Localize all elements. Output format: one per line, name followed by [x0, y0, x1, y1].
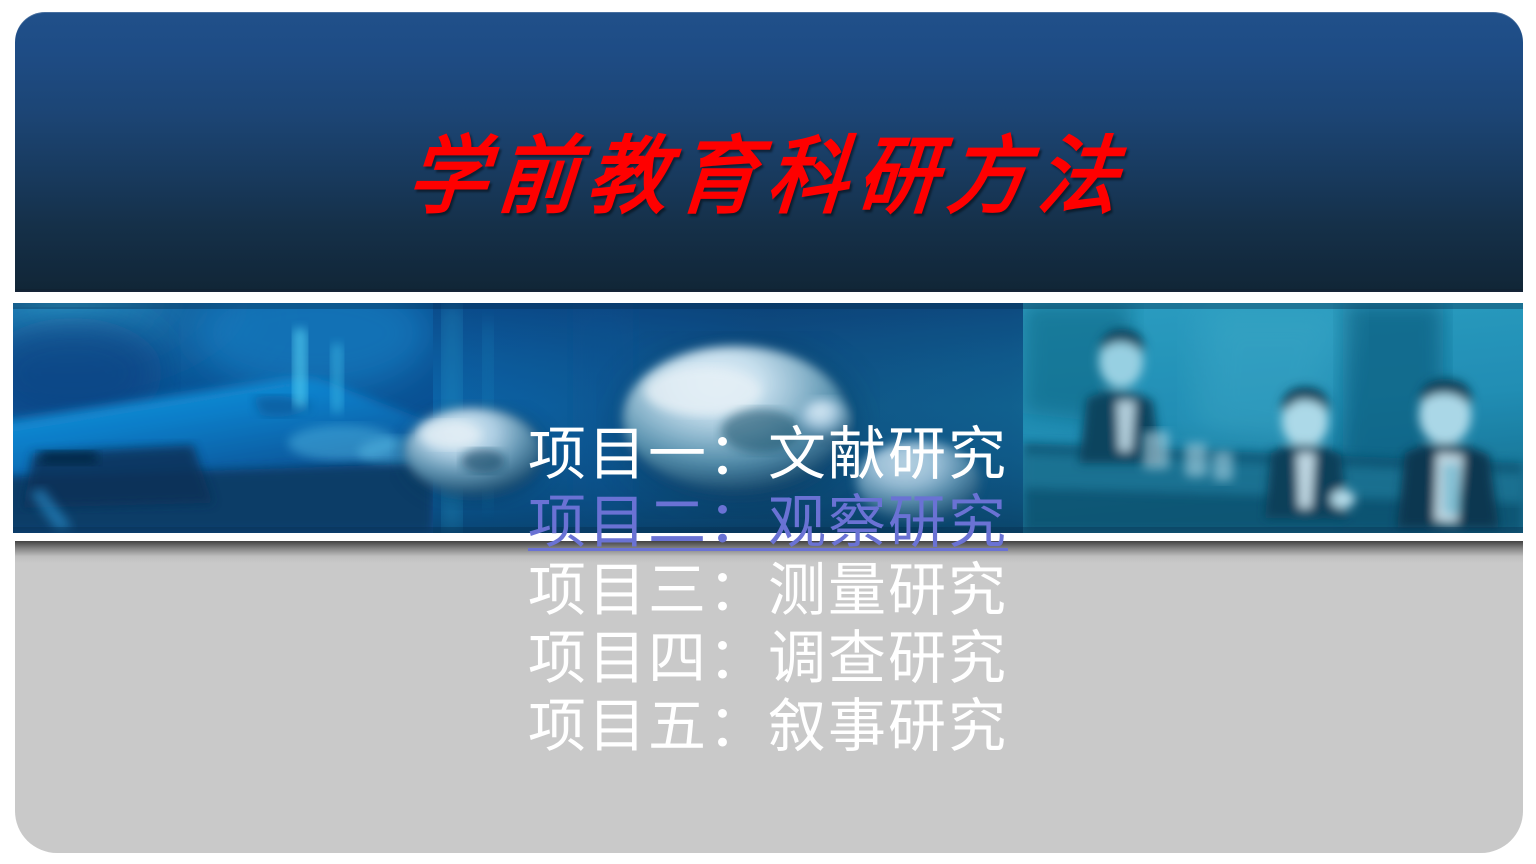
list-item: 项目四：调查研究 — [0, 624, 1536, 692]
list-item: 项目一：文献研究 — [0, 420, 1536, 488]
presentation-slide: 学前教育科研方法 — [0, 0, 1536, 864]
page-title: 学前教育科研方法 — [0, 125, 1536, 227]
list-item: 项目五：叙事研究 — [0, 692, 1536, 760]
list-item-link-observation-research[interactable]: 项目二：观察研究 — [0, 488, 1536, 556]
agenda-list: 项目一：文献研究 项目二：观察研究 项目三：测量研究 项目四：调查研究 项目五：… — [0, 420, 1536, 760]
list-item: 项目三：测量研究 — [0, 556, 1536, 624]
